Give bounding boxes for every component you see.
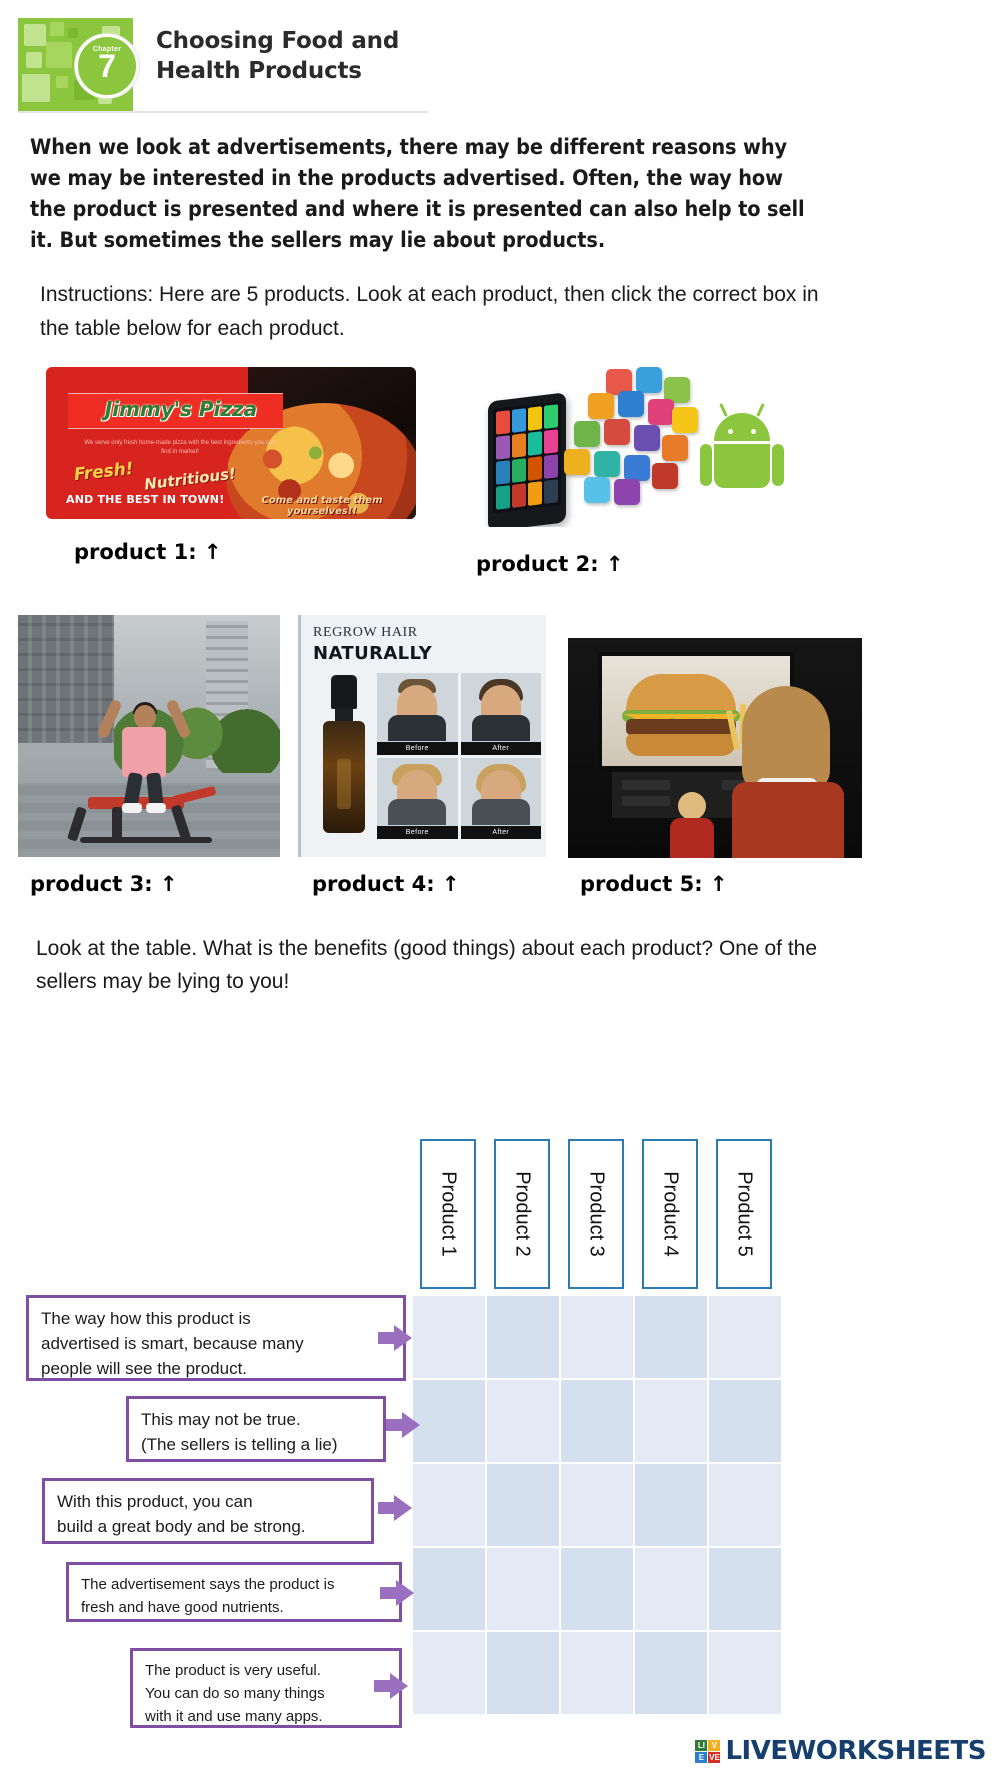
answer-cell-r5c5[interactable] xyxy=(708,1631,782,1715)
banner-divider xyxy=(18,111,428,113)
column-header-product-1: Product 1 xyxy=(420,1139,476,1289)
pizza-fresh-text: Fresh! xyxy=(73,459,134,485)
column-header-product-3: Product 3 xyxy=(568,1139,624,1289)
answer-cell-r2c3[interactable] xyxy=(560,1379,634,1463)
product-1-label: product 1: ↑ xyxy=(74,540,222,564)
logo-tile-e: E xyxy=(695,1752,707,1763)
column-header-product-5: Product 5 xyxy=(716,1139,772,1289)
hair-ad-title-line-1: REGROW HAIR xyxy=(313,625,418,641)
liveworksheets-footer: LI V E VE LIVEWORKSHEETS xyxy=(695,1736,986,1766)
arrow-icon-statement-3 xyxy=(378,1495,412,1521)
product-2-image xyxy=(470,367,790,527)
product-3-image xyxy=(18,615,280,857)
logo-tile-v: V xyxy=(708,1740,720,1751)
before-label: Before xyxy=(377,826,458,839)
pizza-nutritious-text: Nutritious! xyxy=(143,464,237,493)
answer-cell-r5c4[interactable] xyxy=(634,1631,708,1715)
statement-box-2: This may not be true. (The sellers is te… xyxy=(126,1396,386,1462)
statement-line: With this product, you can xyxy=(57,1489,359,1514)
pizza-fine-print: We serve only fresh home-made pizza with… xyxy=(80,439,280,457)
liveworksheets-logo-icon: LI V E VE xyxy=(695,1740,720,1763)
column-header-label: Product 5 xyxy=(733,1171,756,1257)
answer-cell-r3c5[interactable] xyxy=(708,1463,782,1547)
statement-line: (The sellers is telling a lie) xyxy=(141,1432,371,1457)
person-shirt xyxy=(122,727,166,777)
answer-cell-r5c3[interactable] xyxy=(560,1631,634,1715)
answer-cell-r1c1[interactable] xyxy=(412,1295,486,1379)
liveworksheets-brand: LIVEWORKSHEETS xyxy=(725,1736,986,1766)
intro-paragraph: When we look at advertisements, there ma… xyxy=(30,132,820,256)
column-header-product-4: Product 4 xyxy=(642,1139,698,1289)
statement-line: This may not be true. xyxy=(141,1407,371,1432)
hair-ad-title-line-2: NATURALLY xyxy=(313,643,432,664)
answer-cell-r4c3[interactable] xyxy=(560,1547,634,1631)
answer-cell-r1c3[interactable] xyxy=(560,1295,634,1379)
product-5-label: product 5: ↑ xyxy=(580,872,728,896)
product-3-label: product 3: ↑ xyxy=(30,872,178,896)
answer-cell-r1c5[interactable] xyxy=(708,1295,782,1379)
benefits-question-text: Look at the table. What is the benefits … xyxy=(36,932,836,998)
android-head xyxy=(714,413,770,441)
column-header-label: Product 4 xyxy=(659,1171,682,1257)
column-header-label: Product 1 xyxy=(437,1171,460,1257)
answer-cell-r4c4[interactable] xyxy=(634,1547,708,1631)
answer-cell-r4c5[interactable] xyxy=(708,1547,782,1631)
product-4-image: REGROW HAIR NATURALLY Before After Befor… xyxy=(298,615,546,857)
product-5-image xyxy=(568,638,862,858)
column-header-product-2: Product 2 xyxy=(494,1139,550,1289)
statement-line: advertised is smart, because many xyxy=(41,1331,391,1356)
statement-line: fresh and have good nutrients. xyxy=(81,1596,387,1619)
before-label: Before xyxy=(377,742,458,755)
logo-tile-ve: VE xyxy=(708,1752,720,1763)
before-after-grid: Before After Before After xyxy=(377,673,541,839)
answer-cell-r1c2[interactable] xyxy=(486,1295,560,1379)
page-title-line-1: Choosing Food and xyxy=(156,26,426,56)
chapter-number: 7 xyxy=(78,52,136,80)
page-title-line-2: Health Products xyxy=(156,56,426,86)
logo-tile-li: LI xyxy=(695,1740,707,1751)
answer-cell-r3c1[interactable] xyxy=(412,1463,486,1547)
arrow-icon-statement-2 xyxy=(386,1412,420,1438)
answer-cell-r3c3[interactable] xyxy=(560,1463,634,1547)
child-watching-tv xyxy=(664,792,720,858)
before-after-cell: After xyxy=(461,758,542,840)
statement-line: people will see the product. xyxy=(41,1356,391,1381)
product-1-image: Jimmy's Pizza We serve only fresh home-m… xyxy=(46,367,416,519)
arrow-icon-statement-1 xyxy=(378,1325,412,1351)
instructions-text: Instructions: Here are 5 products. Look … xyxy=(40,278,830,346)
answer-cell-r3c2[interactable] xyxy=(486,1463,560,1547)
arrow-icon-statement-5 xyxy=(374,1673,408,1699)
android-body xyxy=(714,444,770,488)
person-head xyxy=(134,705,156,729)
person-exercising xyxy=(96,691,192,809)
answer-grid xyxy=(412,1295,786,1715)
after-label: After xyxy=(461,826,542,839)
column-header-label: Product 3 xyxy=(585,1171,608,1257)
answer-cell-r2c4[interactable] xyxy=(634,1379,708,1463)
page-title: Choosing Food and Health Products xyxy=(156,26,426,86)
answer-cell-r2c1[interactable] xyxy=(412,1379,486,1463)
statement-box-4: The advertisement says the product is fr… xyxy=(66,1562,402,1622)
pizza-best-in-town-text: AND THE BEST IN TOWN! xyxy=(66,493,224,506)
answer-cell-r5c2[interactable] xyxy=(486,1631,560,1715)
statement-box-5: The product is very useful. You can do s… xyxy=(130,1648,402,1728)
statement-line: You can do so many things xyxy=(145,1682,387,1705)
answer-cell-r5c1[interactable] xyxy=(412,1631,486,1715)
answer-cell-r4c1[interactable] xyxy=(412,1547,486,1631)
statement-line: with it and use many apps. xyxy=(145,1705,387,1728)
android-robot-icon xyxy=(700,407,784,487)
after-label: After xyxy=(461,742,542,755)
answer-cell-r4c2[interactable] xyxy=(486,1547,560,1631)
before-after-cell: Before xyxy=(377,673,458,755)
girl-watching-tv xyxy=(730,686,848,858)
chapter-number-badge: Chapter 7 xyxy=(75,34,139,98)
product-4-label: product 4: ↑ xyxy=(312,872,460,896)
column-header-label: Product 2 xyxy=(511,1171,534,1257)
statement-line: The way how this product is xyxy=(41,1306,391,1331)
product-2-label: product 2: ↑ xyxy=(476,552,624,576)
statement-line: The advertisement says the product is xyxy=(81,1573,387,1596)
chapter-banner: Chapter 7 Choosing Food and Health Produ… xyxy=(18,18,428,113)
before-after-cell: Before xyxy=(377,758,458,840)
statement-line: build a great body and be strong. xyxy=(57,1514,359,1539)
before-after-cell: After xyxy=(461,673,542,755)
statement-box-1: The way how this product is advertised i… xyxy=(26,1295,406,1381)
pizza-brand-name: Jimmy's Pizza xyxy=(86,397,276,421)
statement-line: The product is very useful. xyxy=(145,1659,387,1682)
statement-box-3: With this product, you can build a great… xyxy=(42,1478,374,1544)
answer-cell-r3c4[interactable] xyxy=(634,1463,708,1547)
answer-cell-r1c4[interactable] xyxy=(634,1295,708,1379)
answer-cell-r2c5[interactable] xyxy=(708,1379,782,1463)
arrow-icon-statement-4 xyxy=(380,1580,414,1606)
app-icons-cloud xyxy=(548,367,698,507)
answer-cell-r2c2[interactable] xyxy=(486,1379,560,1463)
pizza-come-taste-text: Come and taste them yourselves!! xyxy=(232,495,412,517)
serum-bottle xyxy=(321,675,367,835)
